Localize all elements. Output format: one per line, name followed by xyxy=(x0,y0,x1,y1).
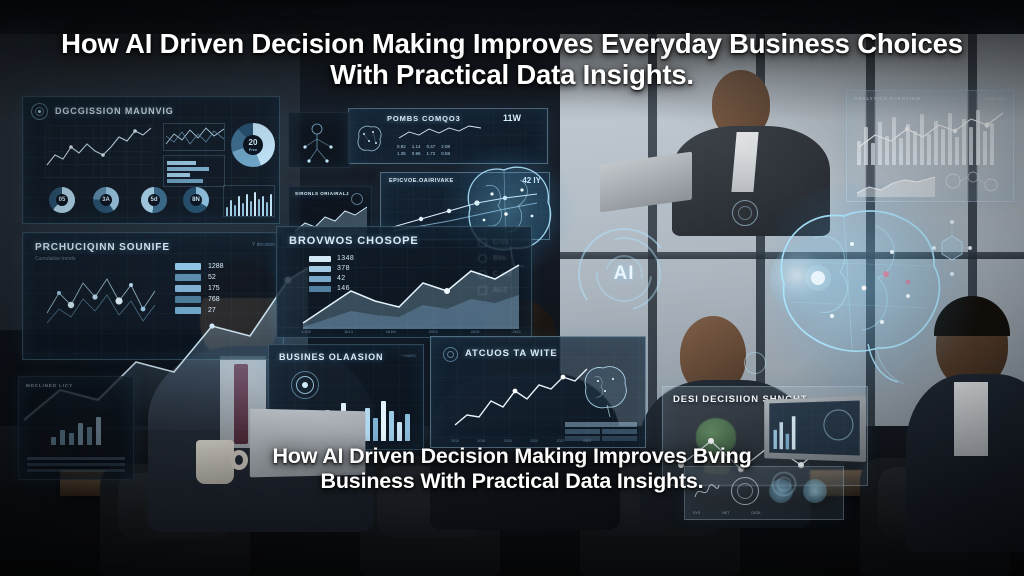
cell: 0.82 xyxy=(397,144,406,149)
xtick: 1b1th xyxy=(386,329,396,334)
xtick: 2022 xyxy=(557,439,565,443)
necktie xyxy=(234,364,248,444)
xtick: 2018 xyxy=(504,439,512,443)
cell: 0.47 xyxy=(427,144,436,149)
mini-line-chart xyxy=(163,123,225,151)
xtick: 2615 xyxy=(471,329,480,334)
panel-title: POMBS COMQO3 xyxy=(387,114,461,123)
bar-line-combo-chart xyxy=(855,107,1007,165)
donut-center-label: Free xyxy=(249,147,257,152)
target-icon xyxy=(31,103,48,120)
panel-corner-label: Y decision xyxy=(252,242,275,248)
donut-small-1: 3A xyxy=(93,187,119,213)
cell: 1.72 xyxy=(427,151,436,156)
panel-title: ATCUOS TA WITE xyxy=(465,348,558,359)
xtick: 2016 xyxy=(477,439,485,443)
mini-area-chart xyxy=(855,171,937,197)
donut-small-2: 5d xyxy=(141,187,167,213)
bar-chart xyxy=(49,405,107,445)
cell: 1.14 xyxy=(412,144,421,149)
panel-top-right-analytics[interactable]: ANALYTICS OVERVIEW DATA FEED xyxy=(846,90,1014,202)
panel-title: MDCLINED LICY xyxy=(26,383,73,388)
headline-secondary-line1: How AI Driven Decision Making Improves B… xyxy=(180,444,844,469)
xtick: 2020 xyxy=(530,439,538,443)
donut-small-0: 05 xyxy=(49,187,75,213)
panel-corner-label: + MARK xyxy=(401,353,416,358)
network-cluster-icon xyxy=(941,167,1005,195)
headline-secondary: How AI Driven Decision Making Improves B… xyxy=(0,444,1024,493)
ai-emblem[interactable]: AI xyxy=(578,228,670,320)
donut-chart-main: 20 Free xyxy=(231,123,275,167)
panel-title: BUSINES OLAASION xyxy=(279,352,383,362)
x-axis-ticks: 2014 2016 2018 2020 2022 2023 xyxy=(451,439,591,443)
ring-widget xyxy=(744,352,766,374)
panel-network-figure-tile[interactable] xyxy=(288,112,350,168)
xtick: 2023 xyxy=(583,439,591,443)
row-value: 1288 xyxy=(208,263,224,270)
panel-broad-trend[interactable]: BROVWOS CHOSOPE 1348 378 42 146 xyxy=(276,226,532,338)
value-table: 1288 52 175 768 27 xyxy=(175,263,271,314)
xtick: 1.100 xyxy=(301,329,311,334)
panel-corner-label: DATA FEED xyxy=(984,96,1006,101)
row-value: 27 xyxy=(208,307,216,314)
badge-right: 11W xyxy=(503,113,521,123)
scatter-network-chart xyxy=(41,265,161,331)
panel-top-left-dashboard[interactable]: DGCGISSION MAUNVIG xyxy=(22,96,280,224)
circle-icon xyxy=(351,193,363,205)
panel-title: DGCGISSION MAUNVIG xyxy=(55,106,174,116)
ai-emblem-label: AI xyxy=(578,228,670,320)
row-swatch xyxy=(175,296,201,303)
cell: 2.08 xyxy=(441,144,450,149)
ring-widget xyxy=(732,200,758,226)
headline-secondary-line2: Business With Practical Data Insights. xyxy=(180,469,844,494)
panel-center-monitor[interactable]: ATCUOS TA WITE xyxy=(430,336,646,448)
brain-icon xyxy=(575,359,635,419)
cell: 1.35 xyxy=(397,151,406,156)
brain-node-icon xyxy=(353,121,385,157)
row-value: 52 xyxy=(208,274,216,281)
mini-line-chart xyxy=(397,124,483,142)
gauge-icon xyxy=(443,347,458,362)
panel-title: SIRONLS ORIAIRALJ xyxy=(295,191,349,196)
row-swatch xyxy=(175,307,201,314)
screenshot-root: DGCGISSION MAUNVIG xyxy=(0,0,1024,576)
cell: 0.96 xyxy=(412,151,421,156)
donut-center-value: 20 xyxy=(249,138,258,147)
row-value: 175 xyxy=(208,285,220,292)
label: DATA xyxy=(751,511,760,515)
xtick: 2014 xyxy=(451,439,459,443)
panel-title: BROVWOS CHOSOPE xyxy=(289,235,419,247)
bar-chart-bottom xyxy=(223,185,275,217)
headline-primary-line1: How AI Driven Decision Making Improves E… xyxy=(34,28,990,59)
donut-value: 8N xyxy=(192,197,200,203)
headline-primary: How AI Driven Decision Making Improves E… xyxy=(0,28,1024,91)
x-axis-ticks: 1.100 1b13 1b1th 2023 2615 2b11 xyxy=(301,329,521,334)
panel-title: ANALYTICS OVERVIEW xyxy=(854,96,921,101)
donut-value: 3A xyxy=(102,197,110,203)
panel-subtitle: Cumulative trends xyxy=(35,256,75,262)
row-swatch xyxy=(175,285,201,292)
row-swatch xyxy=(175,274,201,281)
xtick: 1b13 xyxy=(344,329,353,334)
bar-list xyxy=(163,155,225,187)
label: NET xyxy=(722,511,729,515)
gauge-icon xyxy=(291,371,319,399)
headline-primary-line2: With Practical Data Insights. xyxy=(34,59,990,90)
donut-small-3: 8N xyxy=(183,187,209,213)
row-value: 768 xyxy=(208,296,220,303)
label: SYS xyxy=(693,511,700,515)
area-line-chart xyxy=(299,257,523,329)
brain-hologram-right xyxy=(756,192,978,388)
xtick: 2b11 xyxy=(512,329,521,334)
panel-title: PRCHUCIQINN SOUNIFE xyxy=(35,242,170,253)
donut-value: 05 xyxy=(59,197,66,203)
row-swatch xyxy=(175,263,201,270)
xtick: 2023 xyxy=(429,329,438,334)
line-chart-main xyxy=(45,125,153,179)
donut-value: 5d xyxy=(150,197,157,203)
panel-mid-left-analytics[interactable]: PRCHUCIQINN SOUNIFE Cumulative trends Y … xyxy=(22,232,284,360)
